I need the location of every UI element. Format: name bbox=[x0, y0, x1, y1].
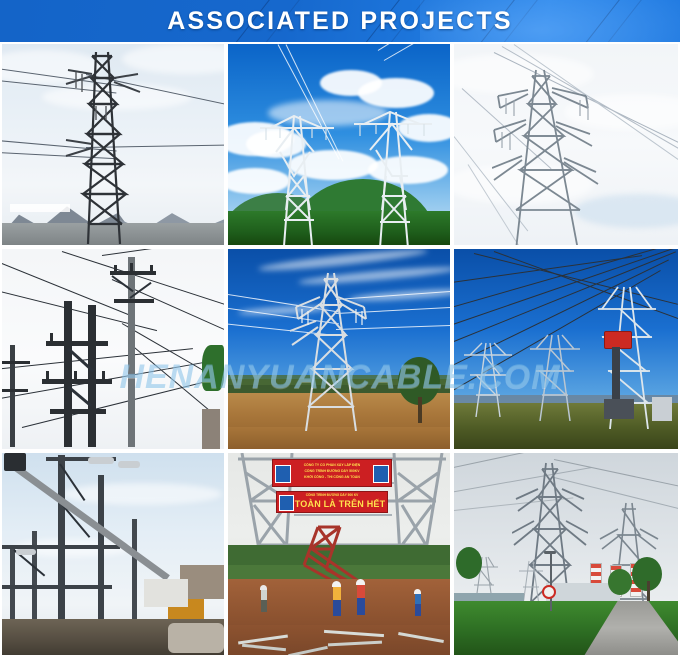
gallery-item-r1c2[interactable] bbox=[226, 42, 452, 247]
photo-towers-road-power-plant bbox=[454, 453, 678, 655]
gallery-item-r2c3[interactable] bbox=[452, 247, 680, 451]
gallery-item-r3c1[interactable] bbox=[0, 451, 226, 657]
photo-tower-mountain-valley bbox=[2, 44, 224, 245]
photo-tower-erection-site: CÔNG TY CỔ PHẦN XÂY LẮP ĐIỆN CÔNG TRÌNH … bbox=[228, 453, 450, 655]
page-title: ASSOCIATED PROJECTS bbox=[0, 0, 680, 42]
tower-savanna-icon bbox=[286, 267, 376, 431]
photo-distribution-poles bbox=[2, 249, 224, 449]
photo-twin-towers-green-hills bbox=[228, 44, 450, 245]
safety-banner-top: CÔNG TY CỔ PHẦN XÂY LẮP ĐIỆN CÔNG TRÌNH … bbox=[272, 459, 392, 487]
gallery-item-r2c2[interactable] bbox=[226, 247, 452, 451]
photo-tower-corridor-crane bbox=[454, 249, 678, 449]
road-sign bbox=[542, 585, 556, 599]
tower-lattice-icon bbox=[62, 48, 142, 244]
photo-tower-low-angle bbox=[454, 44, 678, 245]
gallery-item-r1c3[interactable] bbox=[452, 42, 680, 247]
project-gallery-grid: CÔNG TY CỔ PHẦN XÂY LẮP ĐIỆN CÔNG TRÌNH … bbox=[0, 42, 680, 657]
associated-projects-page: ASSOCIATED PROJECTS bbox=[0, 0, 680, 657]
tower-corridor-left-icon bbox=[460, 337, 516, 417]
page-header: ASSOCIATED PROJECTS bbox=[0, 0, 680, 42]
gallery-item-r3c3[interactable] bbox=[452, 451, 680, 657]
tower-corridor-mid-icon bbox=[526, 329, 584, 421]
tower-cathead-left-icon bbox=[256, 100, 336, 245]
gallery-item-r1c1[interactable] bbox=[0, 42, 226, 247]
tower-perspective-icon bbox=[492, 60, 602, 245]
photo-substation-crane bbox=[2, 453, 224, 655]
gallery-item-r2c1[interactable] bbox=[0, 247, 226, 451]
photo-tower-savanna bbox=[228, 249, 450, 449]
gallery-item-r3c2[interactable]: CÔNG TY CỔ PHẦN XÂY LẮP ĐIỆN CÔNG TRÌNH … bbox=[226, 451, 452, 657]
tower-cathead-right-icon bbox=[350, 96, 434, 245]
safety-banner-main: CÔNG TRÌNH ĐƯỜNG DÂY 500 KV AN TOÀN LÀ T… bbox=[276, 491, 388, 513]
